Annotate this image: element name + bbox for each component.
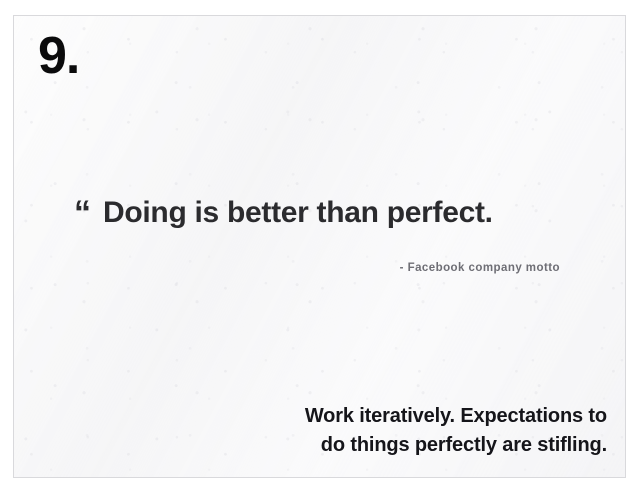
- takeaway-block: Work iteratively. Expectations to do thi…: [187, 402, 607, 460]
- quote-text-before: Doing: [103, 196, 195, 229]
- open-quotation-mark-icon: “: [74, 196, 89, 230]
- slide-canvas: 9. “ Doing is better than perfect. - Fac…: [13, 15, 626, 478]
- quote-text: Doing is better than perfect.: [103, 197, 493, 229]
- takeaway-line-2: do things perfectly are stifling.: [187, 431, 607, 460]
- slide-number: 9.: [38, 30, 79, 82]
- quote-line: “ Doing is better than perfect.: [74, 194, 574, 229]
- quote-attribution: - Facebook company motto: [74, 262, 560, 274]
- quote-text-emphasis: is: [195, 196, 219, 229]
- takeaway-line-1: Work iteratively. Expectations to: [187, 402, 607, 431]
- quote-block: “ Doing is better than perfect.: [74, 194, 574, 229]
- quote-text-after: better than perfect.: [219, 196, 493, 229]
